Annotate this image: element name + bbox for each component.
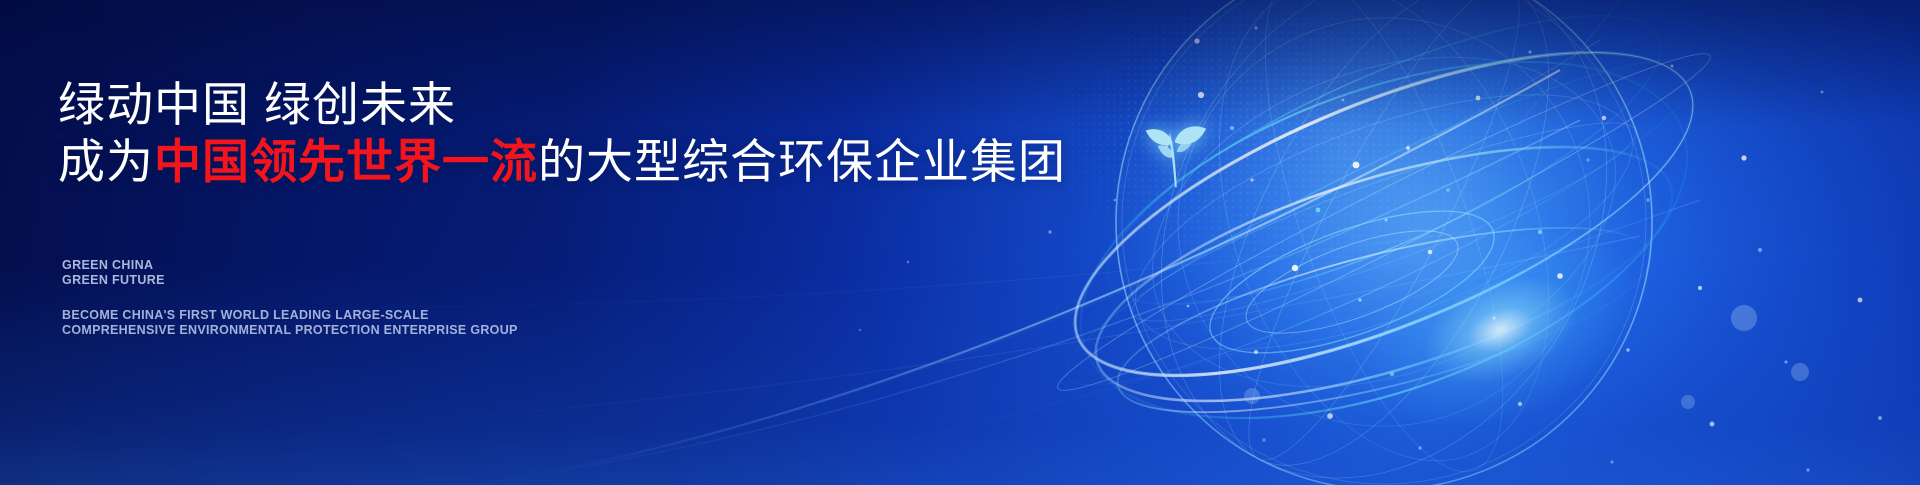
hero-banner: 绿动中国 绿创未来 成为中国领先世界一流的大型综合环保企业集团 GREEN CH… <box>0 0 1920 485</box>
tagline-line-2: GREEN FUTURE <box>62 273 165 288</box>
page-title: 绿动中国 绿创未来 成为中国领先世界一流的大型综合环保企业集团 <box>58 76 1066 190</box>
subtitle-line-2: COMPREHENSIVE ENVIRONMENTAL PROTECTION E… <box>62 323 518 338</box>
headline-line-1: 绿动中国 绿创未来 <box>58 78 456 131</box>
subtitle-line-1: BECOME CHINA'S FIRST WORLD LEADING LARGE… <box>62 308 518 323</box>
headline-line2-suffix: 的大型综合环保企业集团 <box>538 135 1066 188</box>
tagline-line-1: GREEN CHINA <box>62 258 165 273</box>
subtitle-english: BECOME CHINA'S FIRST WORLD LEADING LARGE… <box>62 308 518 337</box>
banner-text-block: 绿动中国 绿创未来 成为中国领先世界一流的大型综合环保企业集团 GREEN CH… <box>58 0 1158 485</box>
headline-line2-prefix: 成为 <box>58 135 154 188</box>
tagline-english: GREEN CHINA GREEN FUTURE <box>62 258 165 288</box>
headline-line-2: 成为中国领先世界一流的大型综合环保企业集团 <box>58 133 1066 190</box>
headline-line2-highlight: 中国领先世界一流 <box>154 135 538 188</box>
